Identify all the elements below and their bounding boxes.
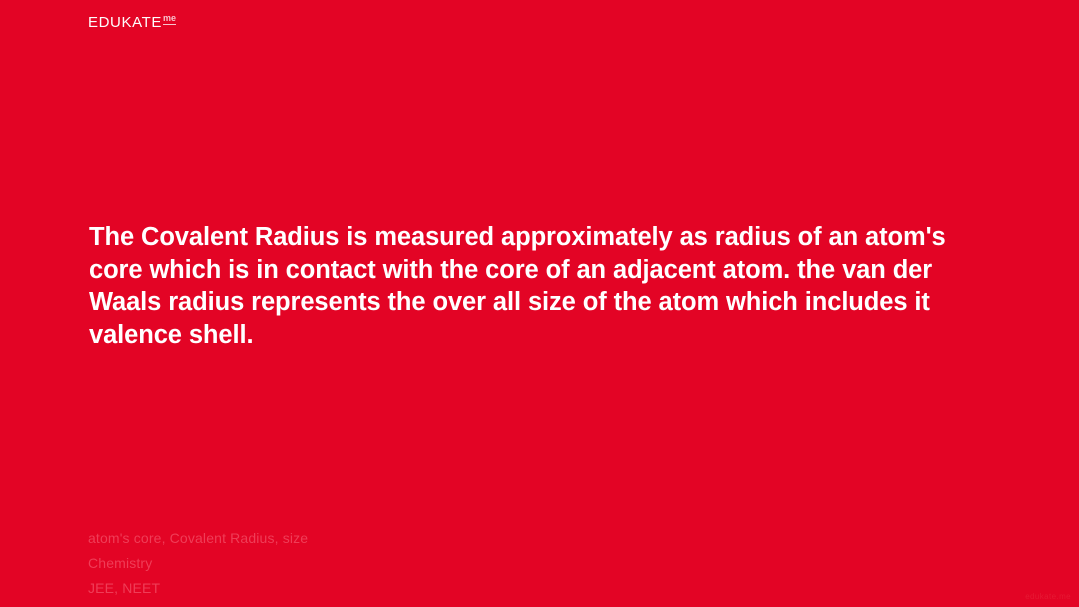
- meta-exams: JEE, NEET: [88, 576, 308, 601]
- brand-superscript: me: [163, 14, 176, 25]
- slide-metadata: atom's core, Covalent Radius, size Chemi…: [88, 526, 308, 601]
- meta-subject: Chemistry: [88, 551, 308, 576]
- brand-logo[interactable]: EDUKATE me: [88, 15, 176, 30]
- slide-headline: The Covalent Radius is measured approxim…: [89, 221, 989, 351]
- brand-name: EDUKATE: [88, 15, 162, 30]
- corner-watermark: edukate.me: [1025, 592, 1071, 601]
- meta-keywords: atom's core, Covalent Radius, size: [88, 526, 308, 551]
- slide-canvas: EDUKATE me The Covalent Radius is measur…: [0, 0, 1079, 607]
